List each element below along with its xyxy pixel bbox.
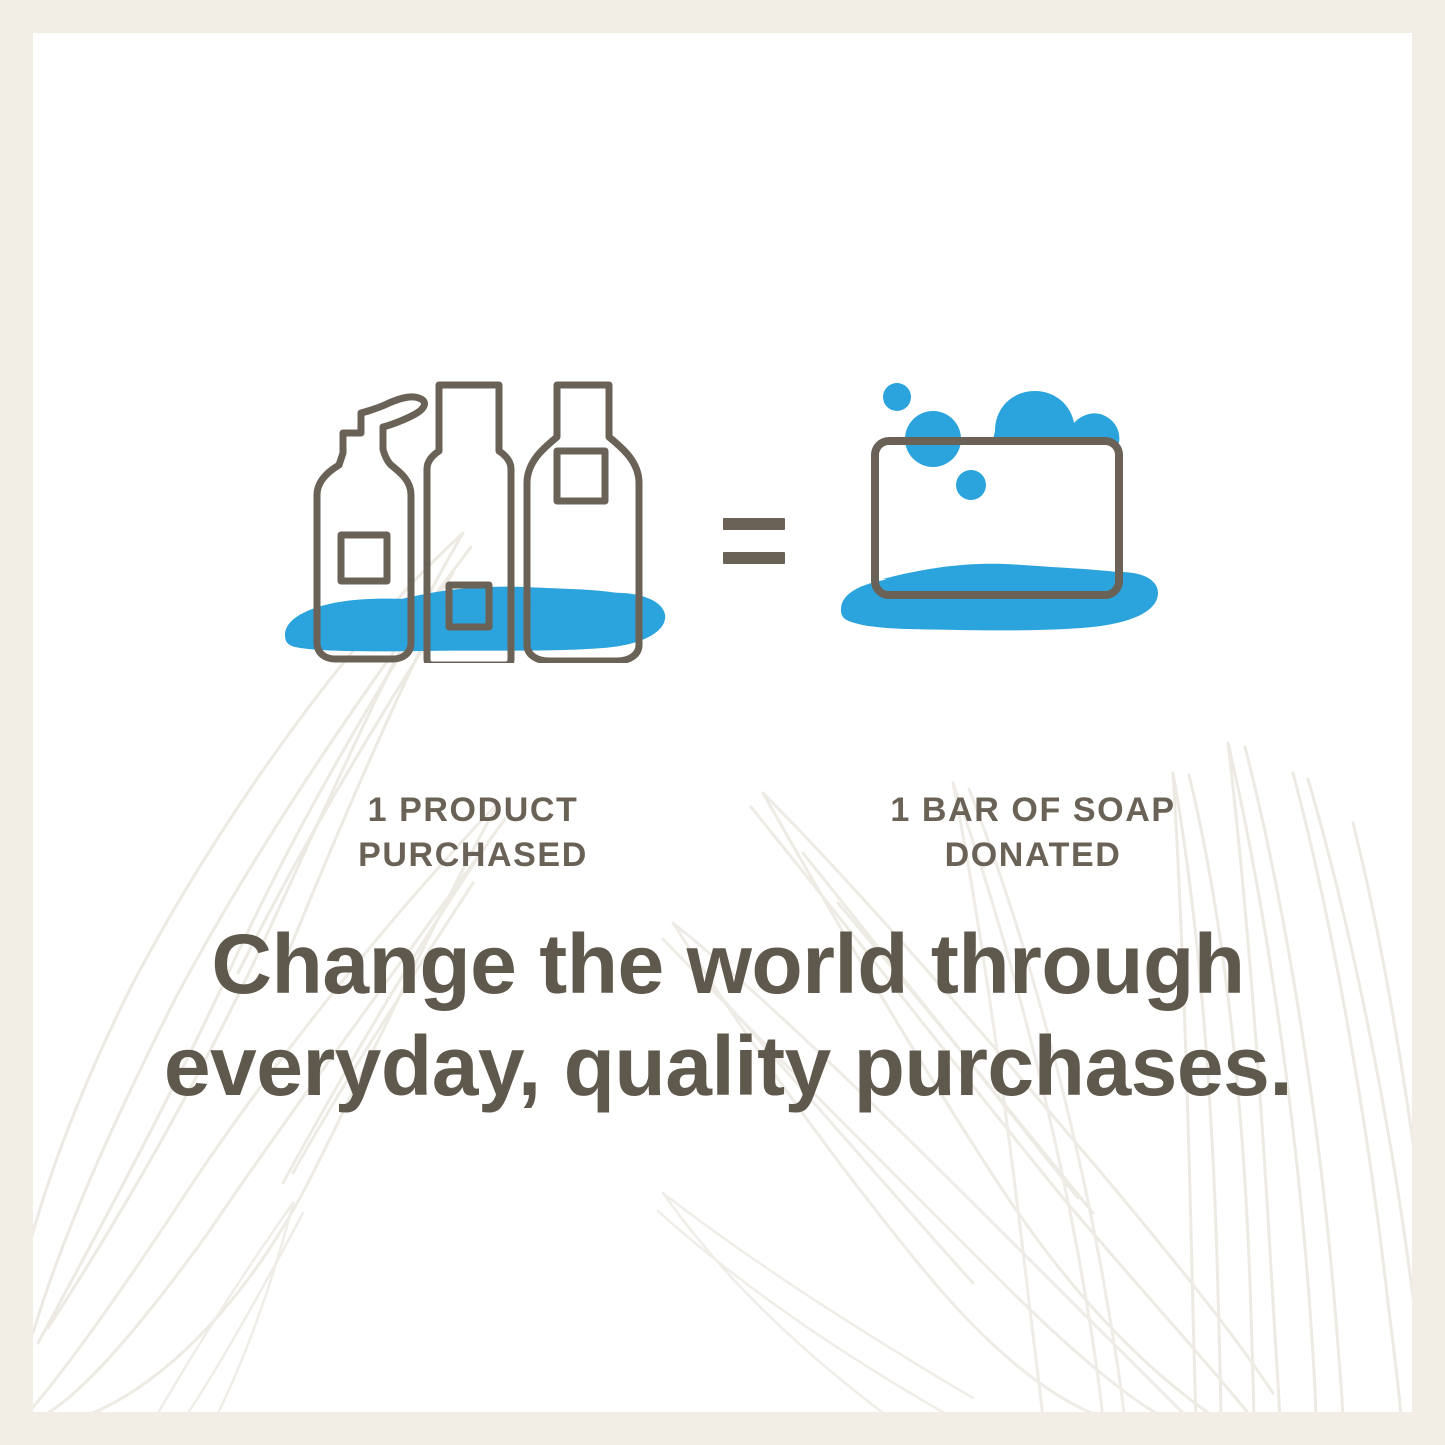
bubble-small-top-left — [883, 383, 911, 411]
neck-bottle-label — [557, 451, 605, 501]
card-inner: 1 PRODUCT PURCHASED 1 BAR OF SOAP DONATE… — [33, 33, 1412, 1412]
pump-bottle-label — [341, 535, 387, 581]
soap-icon-block — [833, 363, 1163, 668]
equals-sign — [723, 518, 793, 580]
bar-of-soap-icon — [833, 363, 1163, 663]
soap-caption-line2: DONATED — [793, 833, 1273, 878]
product-caption: 1 PRODUCT PURCHASED — [243, 788, 703, 878]
promo-card: 1 PRODUCT PURCHASED 1 BAR OF SOAP DONATE… — [0, 0, 1445, 1445]
three-bottles-icon — [273, 363, 673, 663]
bubble-small-mid — [956, 470, 986, 500]
headline: Change the world through everyday, quali… — [93, 913, 1363, 1118]
equals-bar-top — [723, 518, 785, 530]
product-caption-line2: PURCHASED — [243, 833, 703, 878]
suds-cloud-shape — [993, 391, 1119, 443]
product-icon-block — [273, 363, 673, 668]
product-caption-line1: 1 PRODUCT — [243, 788, 703, 833]
equals-bar-bottom — [723, 552, 785, 564]
headline-line-1: Change the world through — [93, 913, 1363, 1015]
headline-line-2: everyday, quality purchases. — [93, 1015, 1363, 1117]
soap-caption: 1 BAR OF SOAP DONATED — [793, 788, 1273, 878]
donation-equation — [33, 363, 1412, 783]
soap-caption-line1: 1 BAR OF SOAP — [793, 788, 1273, 833]
